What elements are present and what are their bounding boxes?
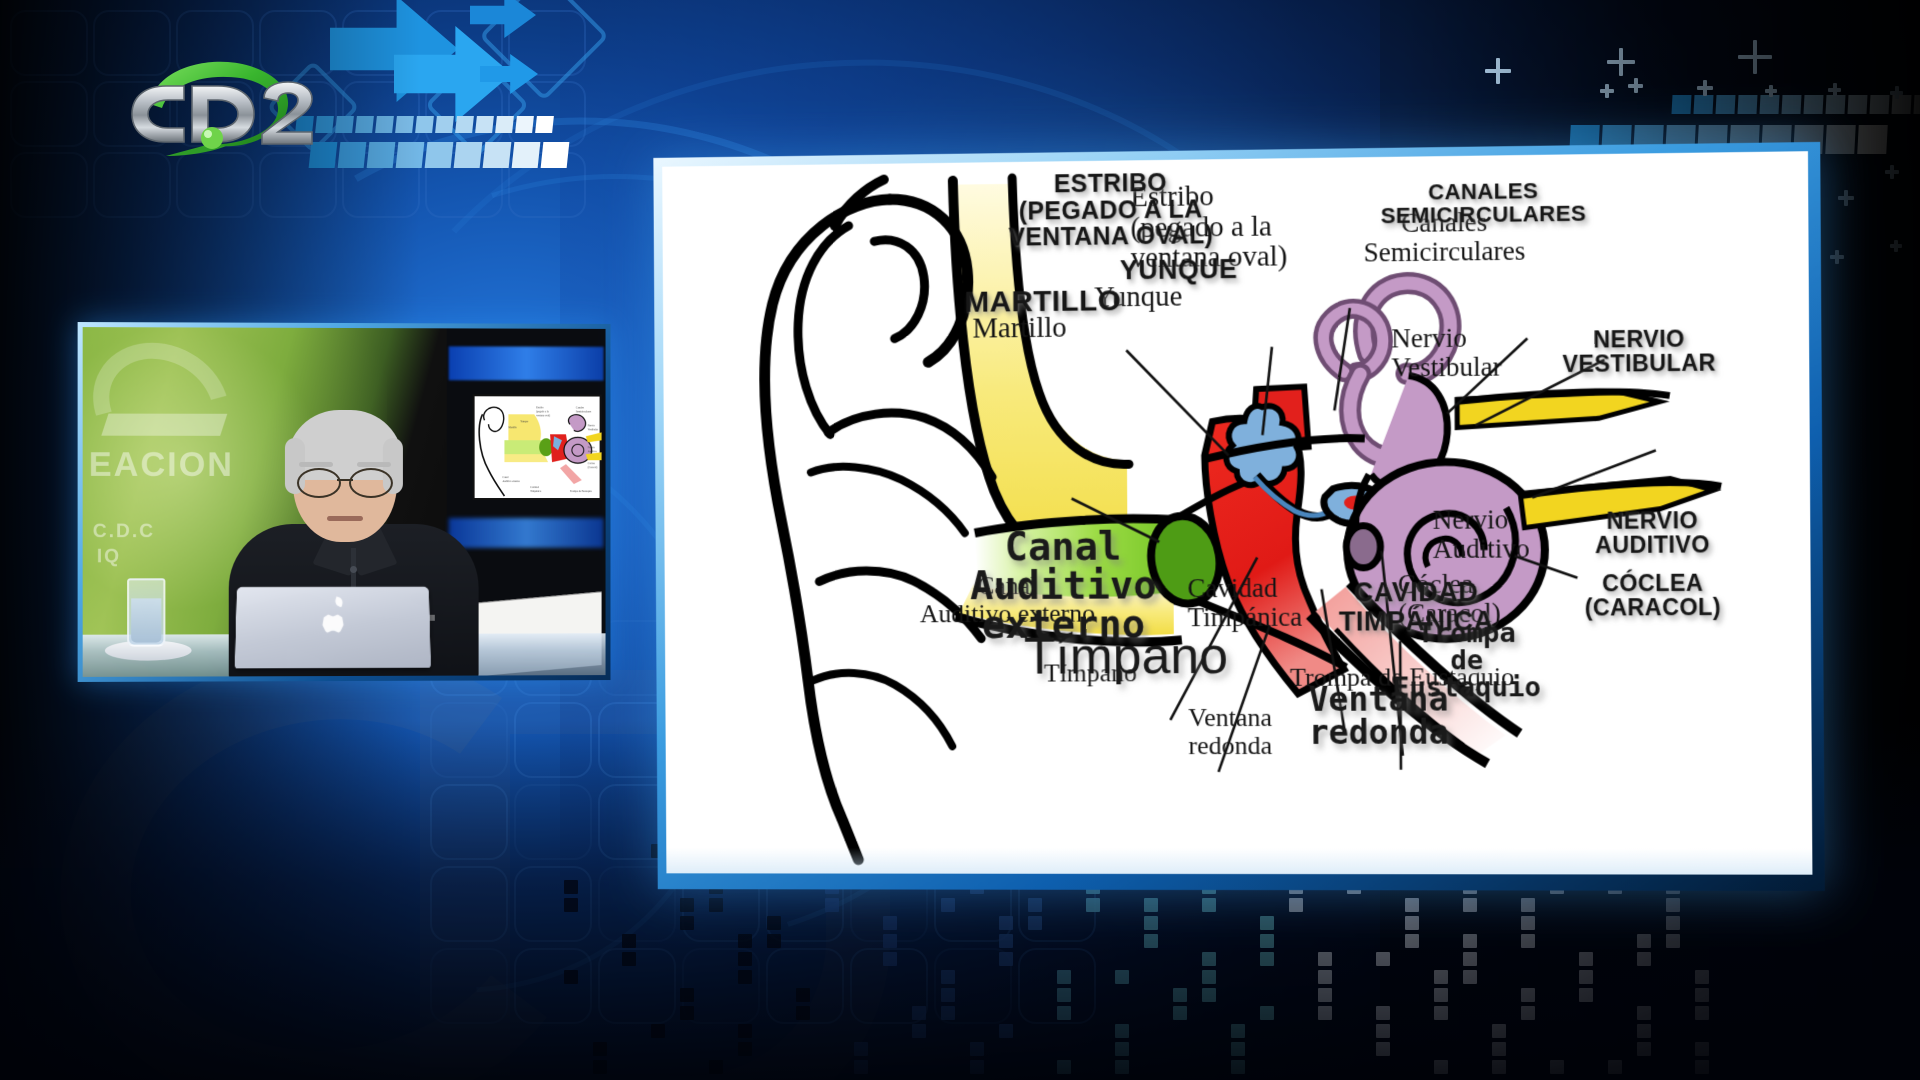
- svg-text:Canal: Canal: [502, 476, 508, 479]
- broadcast-frame: CD2 EACION C.D.C IQ: [0, 0, 1920, 1080]
- svg-text:Vestibular: Vestibular: [588, 428, 599, 431]
- apple-logo-icon: [322, 610, 344, 634]
- svg-text:Auditivo: Auditivo: [588, 450, 598, 453]
- svg-text:Martillo: Martillo: [508, 426, 517, 429]
- overlay-label-coclea: CÓCLEA (CARACOL): [1551, 570, 1755, 620]
- svg-text:Semicirculares: Semicirculares: [576, 410, 591, 413]
- svg-text:(Caracol): (Caracol): [588, 466, 598, 469]
- presenter-eyebrow: [299, 462, 333, 467]
- overlay-label-martillo: MARTILLO: [964, 285, 1121, 318]
- overlay-label-ventana-redonda: Ventana redonda: [1258, 682, 1500, 749]
- svg-text:ventana oval): ventana oval): [536, 414, 550, 417]
- svg-text:Canales: Canales: [576, 406, 584, 409]
- presenter-mouth: [327, 516, 363, 521]
- studio-backdrop-text-3: IQ: [97, 546, 121, 568]
- laptop: [235, 587, 431, 669]
- svg-text:Nervio: Nervio: [588, 424, 596, 427]
- svg-text:Cavidad: Cavidad: [530, 486, 539, 489]
- overlay-label-yunque: YUNQUE: [1120, 255, 1238, 285]
- water-glass: [127, 578, 165, 646]
- studio-backdrop-text-1: EACION: [89, 446, 234, 485]
- svg-text:Nervio: Nervio: [588, 446, 596, 449]
- overlay-label-timpano: Tímpano: [1024, 629, 1228, 685]
- brand-logo: CD2: [92, 52, 392, 162]
- svg-text:Timpánica: Timpánica: [530, 490, 542, 493]
- diagram-label-nervio-auditivo: Nervio Auditivo: [1433, 505, 1530, 563]
- presenter-video-inset[interactable]: EACION C.D.C IQ: [78, 322, 611, 682]
- presenter-video-surface: EACION C.D.C IQ: [83, 327, 606, 677]
- studio-backdrop-bar: [101, 414, 227, 436]
- presenter-eyebrow: [357, 462, 391, 467]
- overlay-label-nervio-auditivo: NERVIO AUDITIVO: [1561, 508, 1744, 558]
- slide-canvas: Estribo (pegado a la ventana oval) Yunqu…: [662, 151, 1812, 875]
- svg-text:Trompa de Eustaquio: Trompa de Eustaquio: [570, 490, 593, 493]
- svg-text:Yunque: Yunque: [520, 420, 529, 423]
- svg-text:Auditivo externo: Auditivo externo: [502, 480, 520, 483]
- overlay-label-nervio-vestibular: NERVIO VESTIBULAR: [1537, 326, 1740, 377]
- overlay-label-estribo: ESTRIBO (PEGADO A LA VENTANA OVAL): [986, 169, 1235, 251]
- overlay-label-canales-semicirculares: CANALES SEMICIRCULARES: [1367, 178, 1599, 228]
- presenter-shirt-button: [350, 566, 357, 573]
- svg-text:Cóclea: Cóclea: [588, 462, 596, 465]
- studio-backdrop-text-2: C.D.C: [93, 521, 155, 543]
- presenter-glasses: [297, 468, 393, 494]
- presentation-slide[interactable]: Estribo (pegado a la ventana oval) Yunqu…: [653, 142, 1824, 891]
- svg-text:Estribo: Estribo: [536, 406, 544, 409]
- water-glass-liquid: [131, 598, 161, 642]
- diagram-label-nervio-vestibular: Nervio Vestibular: [1391, 323, 1502, 382]
- slide-frame: Estribo (pegado a la ventana oval) Yunqu…: [653, 142, 1824, 891]
- svg-text:(pegado a la: (pegado a la: [536, 410, 549, 413]
- monitor-light-bar: [449, 346, 604, 380]
- studio-monitor-ear-diagram: Estribo(pegado a laventana oval) YunqueM…: [473, 394, 602, 500]
- apple-logo-leaf-icon: [334, 597, 344, 608]
- slide-bottom-sheen: [666, 848, 1812, 875]
